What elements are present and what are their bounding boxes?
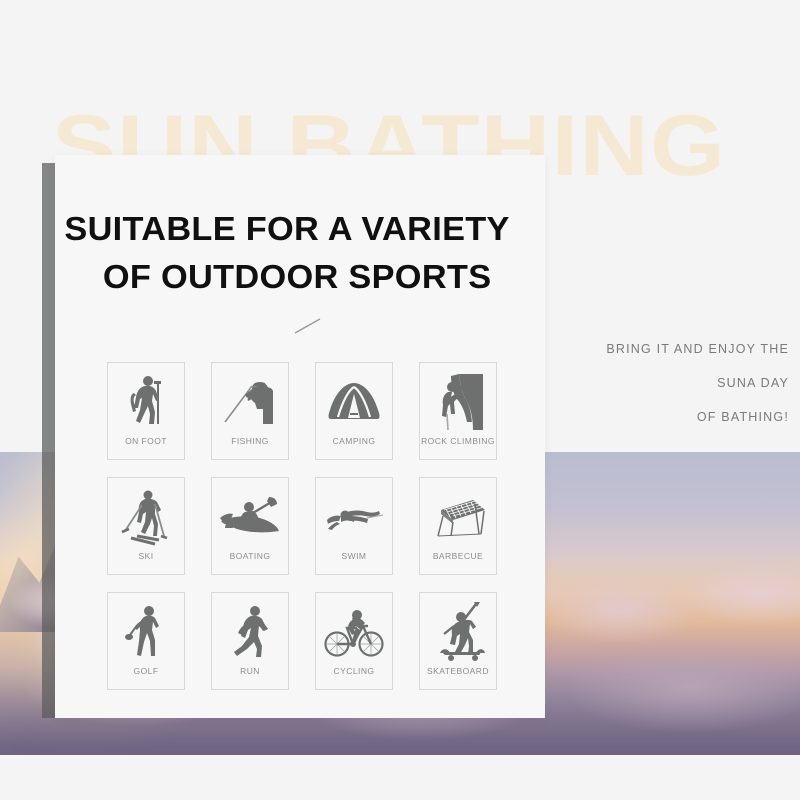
page-title: SUITABLE FOR A VARIETY OF OUTDOOR SPORTS: [55, 205, 545, 301]
tile-label: RUN: [204, 666, 296, 676]
tile-swim[interactable]: SWIM: [315, 477, 393, 575]
tile-label: SKI: [100, 551, 192, 561]
tile-label: BARBECUE: [412, 551, 504, 561]
tile-camping[interactable]: CAMPING: [315, 362, 393, 460]
tile-on-foot[interactable]: ON FOOT: [107, 362, 185, 460]
tile-label: SKATEBOARD: [412, 666, 504, 676]
tile-rock-climbing[interactable]: ROCK CLIMBING: [419, 362, 497, 460]
golfer-icon: [108, 593, 184, 666]
swimmer-icon: [316, 478, 392, 551]
angler-icon: [212, 363, 288, 436]
tile-label: SWIM: [308, 551, 400, 561]
runner-icon: [212, 593, 288, 666]
headline-line-1: SUITABLE FOR A VARIETY: [55, 205, 565, 253]
tile-fishing[interactable]: FISHING: [211, 362, 289, 460]
tile-golf[interactable]: GOLF: [107, 592, 185, 690]
grid-row: GOLF RUN: [107, 592, 499, 690]
tile-label: BOATING: [204, 551, 296, 561]
tile-cycling[interactable]: CYCLING: [315, 592, 393, 690]
tile-label: GOLF: [100, 666, 192, 676]
skateboarder-icon: [420, 593, 496, 666]
grid-row: SKI BOATING: [107, 477, 499, 575]
side-copy-line-1: BRING IT AND ENJOY THE: [559, 332, 789, 366]
diagonal-slash-icon: [293, 317, 323, 335]
side-copy-line-2: SUNA DAY: [559, 366, 789, 400]
tile-label: ON FOOT: [100, 436, 192, 446]
side-copy: BRING IT AND ENJOY THE SUNA DAY OF BATHI…: [559, 332, 789, 434]
tile-label: FISHING: [204, 436, 296, 446]
tile-skateboard[interactable]: SKATEBOARD: [419, 592, 497, 690]
tile-label: CAMPING: [308, 436, 400, 446]
side-copy-line-3: OF BATHING!: [559, 400, 789, 434]
headline-line-2: OF OUTDOOR SPORTS: [55, 253, 565, 301]
cyclist-icon: [316, 593, 392, 666]
poster-canvas: SUN BATHING SUITABLE FOR A VARIETY OF OU…: [0, 0, 800, 800]
tile-ski[interactable]: SKI: [107, 477, 185, 575]
sports-icon-grid: ON FOOT FISHING: [107, 362, 499, 707]
kayak-icon: [212, 478, 288, 551]
tile-boating[interactable]: BOATING: [211, 477, 289, 575]
tent-icon: [316, 363, 392, 436]
hiker-icon: [108, 363, 184, 436]
tile-run[interactable]: RUN: [211, 592, 289, 690]
skier-icon: [108, 478, 184, 551]
tile-barbecue[interactable]: BARBECUE: [419, 477, 497, 575]
grid-row: ON FOOT FISHING: [107, 362, 499, 460]
grill-icon: [420, 478, 496, 551]
climber-icon: [420, 363, 496, 436]
accent-bar: [42, 163, 55, 718]
tile-label: ROCK CLIMBING: [412, 436, 504, 446]
tile-label: CYCLING: [308, 666, 400, 676]
